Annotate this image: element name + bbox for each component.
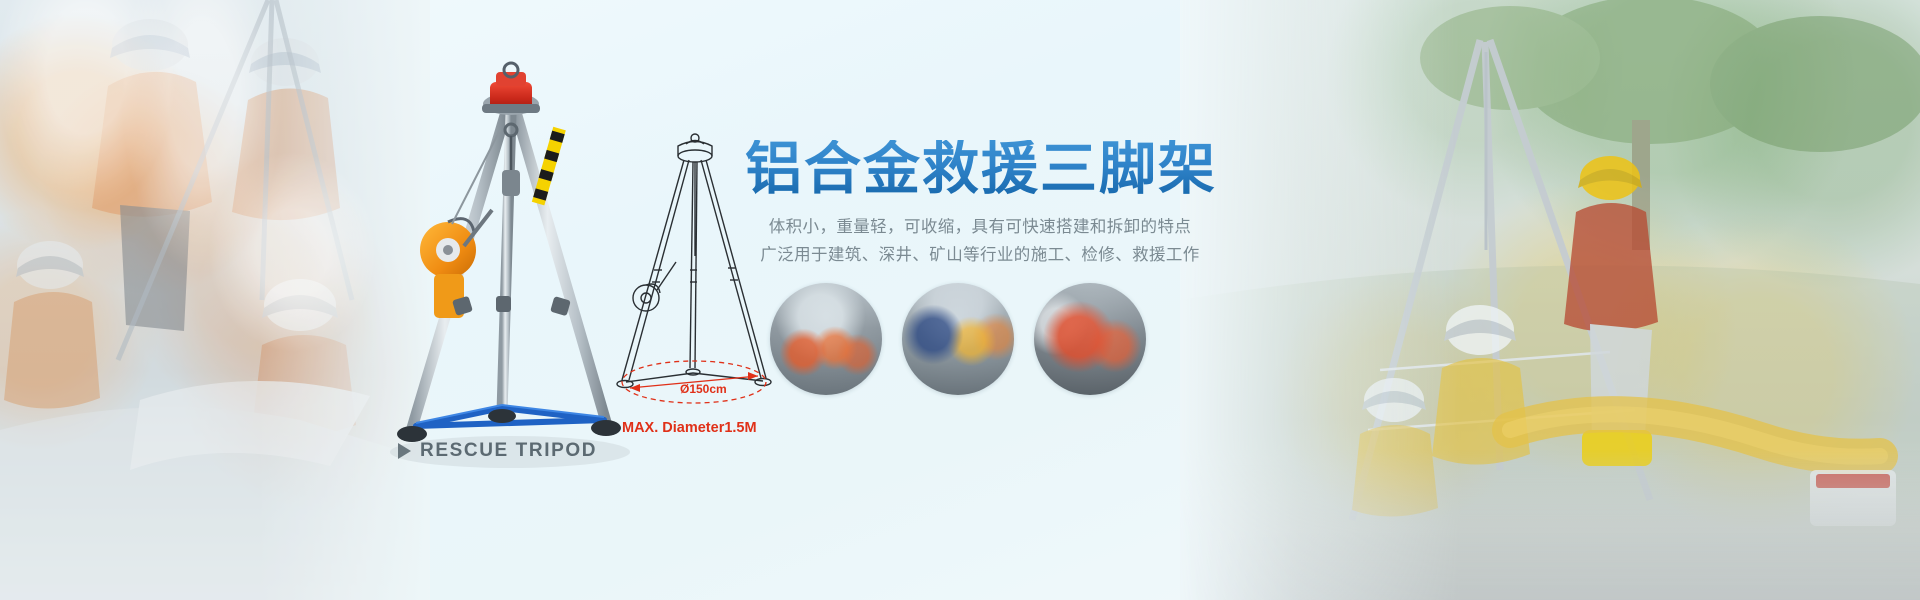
thumbnail-rescue-team-field[interactable] bbox=[770, 283, 882, 395]
diameter-annotation: Ø150cm bbox=[680, 382, 727, 396]
product-banner: RESCUE TRIPOD bbox=[0, 0, 1920, 600]
thumbnail-row bbox=[770, 283, 1146, 395]
thumbnail-rescue-worker-signal[interactable] bbox=[1034, 283, 1146, 395]
subtitle-line-2: 广泛用于建筑、深井、矿山等行业的施工、检修、救援工作 bbox=[745, 241, 1215, 269]
background-photo-right bbox=[1180, 0, 1920, 600]
play-triangle-icon bbox=[398, 443, 411, 459]
page-title: 铝合金救援三脚架 bbox=[745, 140, 1215, 200]
product-caption: RESCUE TRIPOD bbox=[398, 440, 597, 462]
rescue-scene-right-illustration bbox=[1180, 0, 1920, 600]
subtitle-line-1: 体积小，重量轻，可收缩，具有可快速搭建和拆卸的特点 bbox=[745, 213, 1215, 241]
max-diameter-annotation: MAX. Diameter1.5M bbox=[622, 420, 757, 436]
thumbnail-rescue-team-wellhead[interactable] bbox=[902, 283, 1014, 395]
product-caption-label: RESCUE TRIPOD bbox=[420, 440, 597, 462]
headline-block: 铝合金救援三脚架 体积小，重量轻，可收缩，具有可快速搭建和拆卸的特点 广泛用于建… bbox=[745, 140, 1215, 270]
ground-shadow-right bbox=[1180, 450, 1920, 600]
